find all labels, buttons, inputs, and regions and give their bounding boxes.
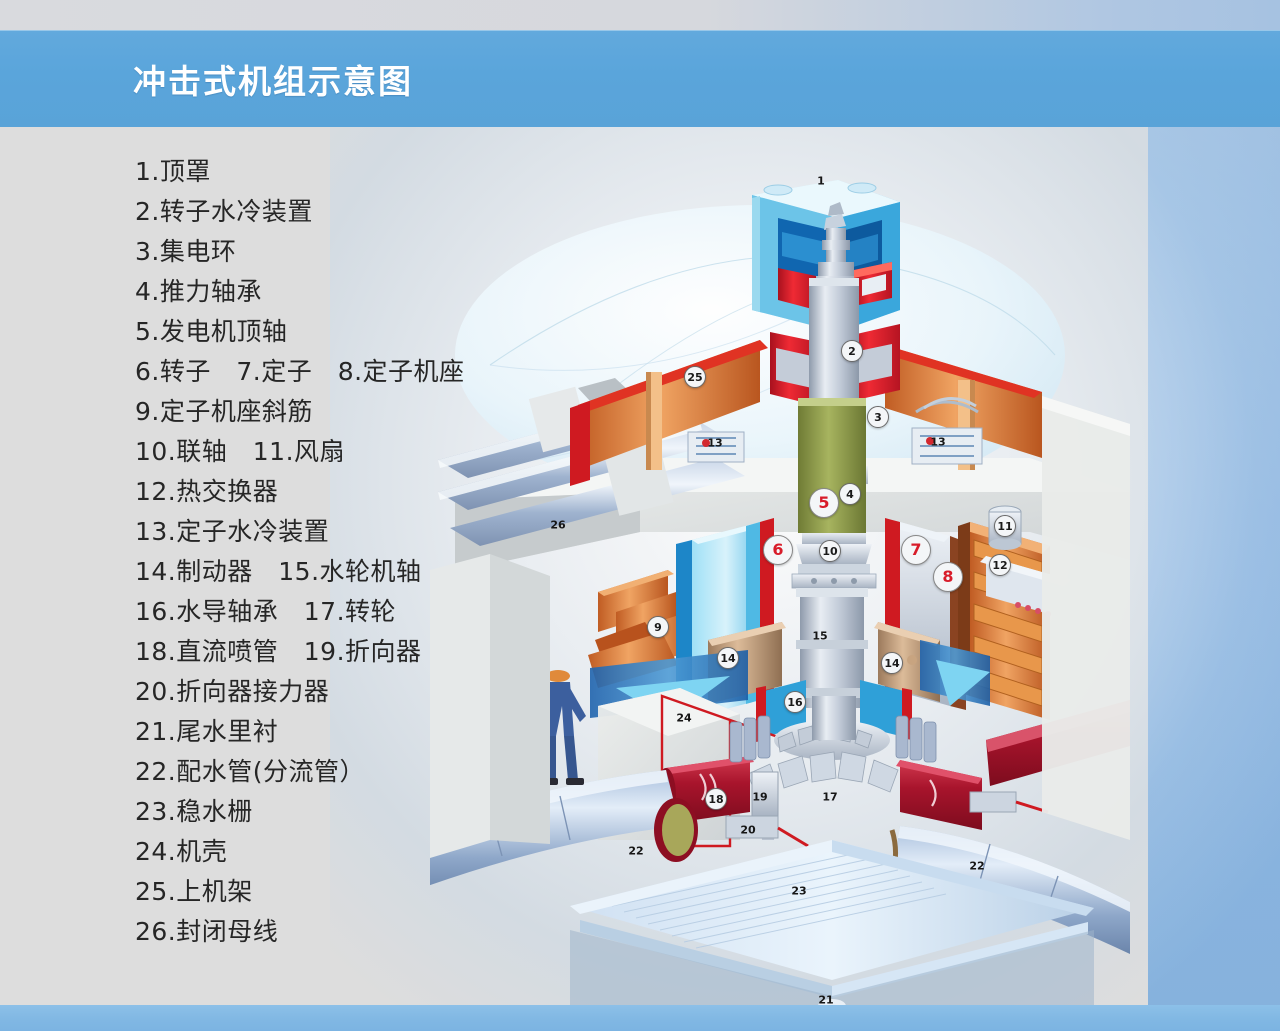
callout-1: 1 (817, 176, 825, 187)
callout-12: 12 (989, 554, 1011, 576)
callout-11: 11 (994, 515, 1016, 537)
legend-list: 1.顶罩2.转子水冷装置3.集电环4.推力轴承5.发电机顶轴6.转子 7.定子 … (135, 152, 555, 952)
callout-21: 21 (818, 995, 833, 1006)
callout-19: 19 (752, 792, 767, 803)
page-title: 冲击式机组示意图 (133, 30, 413, 127)
legend-item: 1.顶罩 (135, 152, 555, 192)
water-band (0, 1005, 1280, 1031)
callout-10: 10 (819, 540, 841, 562)
callout-15: 15 (812, 631, 827, 642)
legend-item: 12.热交换器 (135, 472, 555, 512)
legend-item: 6.转子 7.定子 8.定子机座 (135, 352, 555, 392)
concrete-wall-right (1042, 396, 1130, 840)
callout-4: 4 (839, 483, 861, 505)
legend-item: 25.上机架 (135, 872, 555, 912)
callout-22: 22 (628, 846, 643, 857)
legend-item: 3.集电环 (135, 232, 555, 272)
callout-22b: 22 (969, 861, 984, 872)
callout-5: 5 (809, 488, 839, 518)
callout-16: 16 (784, 691, 806, 713)
turbine-shaft-15 (796, 588, 868, 708)
legend-item: 4.推力轴承 (135, 272, 555, 312)
legend-item: 16.水导轴承 17.转轮 (135, 592, 555, 632)
callout-13b: 13 (930, 437, 945, 448)
callout-17: 17 (822, 792, 837, 803)
callout-24: 24 (676, 713, 691, 724)
callout-14: 14 (717, 647, 739, 669)
callout-3: 3 (867, 406, 889, 428)
callout-25: 25 (684, 366, 706, 388)
legend-item: 5.发电机顶轴 (135, 312, 555, 352)
callout-6: 6 (763, 535, 793, 565)
callout-7: 7 (901, 535, 931, 565)
callout-8: 8 (933, 562, 963, 592)
legend-item: 14.制动器 15.水轮机轴 (135, 552, 555, 592)
legend-item: 20.折向器接力器 (135, 672, 555, 712)
slide-root: 1234567891011121313141415161718192021222… (0, 0, 1280, 1031)
legend-item: 13.定子水冷装置 (135, 512, 555, 552)
legend-item: 26.封闭母线 (135, 912, 555, 952)
deflector-servomotor-20-left (726, 816, 808, 846)
top-strip (0, 0, 1280, 30)
legend-item: 23.稳水栅 (135, 792, 555, 832)
callout-9: 9 (647, 616, 669, 638)
legend-item: 18.直流喷管 19.折向器 (135, 632, 555, 672)
callout-18: 18 (705, 788, 727, 810)
callout-20: 20 (740, 825, 755, 836)
legend-item: 21.尾水里衬 (135, 712, 555, 752)
callout-14b: 14 (881, 652, 903, 674)
callout-13: 13 (707, 438, 722, 449)
callout-23: 23 (791, 886, 806, 897)
legend-item: 2.转子水冷装置 (135, 192, 555, 232)
legend-item: 10.联轴 11.风扇 (135, 432, 555, 472)
legend-item: 24.机壳 (135, 832, 555, 872)
callout-2: 2 (841, 340, 863, 362)
nozzle-18-right (896, 760, 982, 830)
legend-item: 9.定子机座斜筋 (135, 392, 555, 432)
legend-item: 22.配水管(分流管） (135, 752, 555, 792)
deflector-servomotor-20-right (970, 792, 1048, 812)
